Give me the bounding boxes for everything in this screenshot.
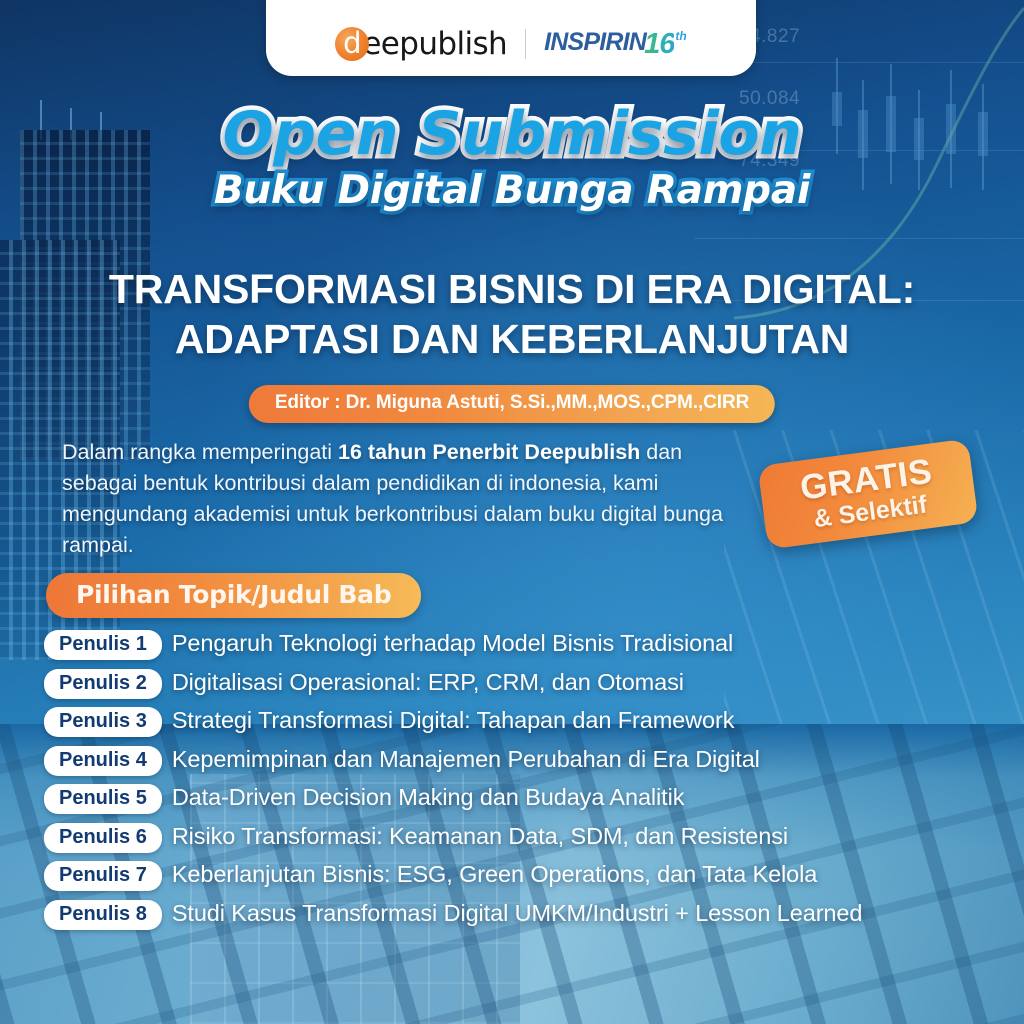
gratis-badge: GRATIS & Selektif — [757, 439, 978, 550]
topics-list: Penulis 1Pengaruh Teknologi terhadap Mod… — [44, 628, 1004, 936]
topic-title: Strategi Transformasi Digital: Tahapan d… — [172, 705, 735, 736]
topic-title: Kepemimpinan dan Manajemen Perubahan di … — [172, 744, 760, 775]
author-pill: Penulis 7 — [44, 861, 162, 891]
deepublish-mark-letter: d — [343, 29, 361, 58]
topic-title: Studi Kasus Transformasi Digital UMKM/In… — [172, 898, 863, 929]
intro-part-1: Dalam rangka memperingati — [62, 440, 338, 464]
poster-canvas: 64.827 50.084 74.349 — [0, 0, 1024, 1024]
topic-title: Risiko Transformasi: Keamanan Data, SDM,… — [172, 821, 788, 852]
author-pill: Penulis 3 — [44, 707, 162, 737]
inspirin-anniversary-number: 16 — [644, 28, 674, 61]
topic-title: Data-Driven Decision Making dan Budaya A… — [172, 782, 685, 813]
topic-row: Penulis 3Strategi Transformasi Digital: … — [44, 705, 1004, 737]
intro-paragraph: Dalam rangka memperingati 16 tahun Pener… — [62, 437, 752, 561]
author-pill: Penulis 1 — [44, 630, 162, 660]
headline-primary: Open Submission — [0, 104, 1024, 165]
topic-row: Penulis 1Pengaruh Teknologi terhadap Mod… — [44, 628, 1004, 660]
topic-row: Penulis 2Digitalisasi Operasional: ERP, … — [44, 667, 1004, 699]
inspirin-wordmark: INSPIRIN — [544, 28, 646, 57]
editor-badge: Editor : Dr. Miguna Astuti, S.Si.,MM.,MO… — [249, 385, 775, 423]
author-pill: Penulis 2 — [44, 669, 162, 699]
topic-row: Penulis 5Data-Driven Decision Making dan… — [44, 782, 1004, 814]
author-pill: Penulis 8 — [44, 900, 162, 930]
topic-row: Penulis 4Kepemimpinan dan Manajemen Peru… — [44, 744, 1004, 776]
topic-title: Keberlanjutan Bisnis: ESG, Green Operati… — [172, 859, 817, 890]
logo-divider — [525, 29, 526, 59]
topic-title: Pengaruh Teknologi terhadap Model Bisnis… — [172, 628, 733, 659]
headline-secondary: Buku Digital Bunga Rampai — [0, 171, 1024, 212]
author-pill: Penulis 6 — [44, 823, 162, 853]
deepublish-wordmark: eepublish — [362, 26, 507, 62]
page-title: TRANSFORMASI BISNIS DI ERA DIGITAL: ADAP… — [0, 264, 1024, 364]
topic-row: Penulis 7Keberlanjutan Bisnis: ESG, Gree… — [44, 859, 1004, 891]
inspirin-ordinal-suffix: th — [675, 29, 686, 43]
topic-row: Penulis 6Risiko Transformasi: Keamanan D… — [44, 821, 1004, 853]
topics-heading-badge: Pilihan Topik/Judul Bab — [46, 573, 421, 618]
brand-header-card: d eepublish INSPIRIN 16 th — [266, 0, 756, 76]
title-line-2: ADAPTASI DAN KEBERLANJUTAN — [0, 314, 1024, 364]
topic-title: Digitalisasi Operasional: ERP, CRM, dan … — [172, 667, 684, 698]
deepublish-logo[interactable]: d eepublish — [335, 26, 507, 62]
intro-bold: 16 tahun Penerbit Deepublish — [338, 440, 640, 464]
title-line-1: TRANSFORMASI BISNIS DI ERA DIGITAL: — [0, 264, 1024, 314]
author-pill: Penulis 5 — [44, 784, 162, 814]
topic-row: Penulis 8Studi Kasus Transformasi Digita… — [44, 898, 1004, 930]
author-pill: Penulis 4 — [44, 746, 162, 776]
inspirin-logo[interactable]: INSPIRIN 16 th — [544, 28, 687, 61]
headline-block: Open Submission Buku Digital Bunga Rampa… — [0, 104, 1024, 212]
